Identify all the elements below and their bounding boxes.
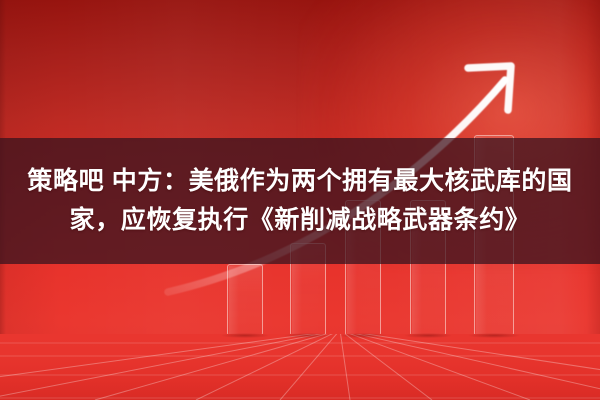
caption-line-2: 家，应恢复执行《新削减战略武器条约》 <box>70 206 531 236</box>
bar-shadow <box>468 333 520 338</box>
chart-bar <box>227 264 263 336</box>
bar-shadow <box>339 333 387 338</box>
caption-line-1: 策略吧 中方：美俄作为两个拥有最大核武库的国 <box>27 167 572 197</box>
bar-shadow <box>221 333 269 338</box>
caption-text: 策略吧 中方：美俄作为两个拥有最大核武库的国 家，应恢复执行《新削减战略武器条约… <box>0 138 600 264</box>
bar-shadow <box>404 333 452 338</box>
news-thumbnail-image: 策略吧 中方：美俄作为两个拥有最大核武库的国 家，应恢复执行《新削减战略武器条约… <box>0 0 600 400</box>
perspective-grid <box>0 334 600 400</box>
bar-shadow <box>284 333 332 338</box>
perspective-floor <box>0 334 600 400</box>
